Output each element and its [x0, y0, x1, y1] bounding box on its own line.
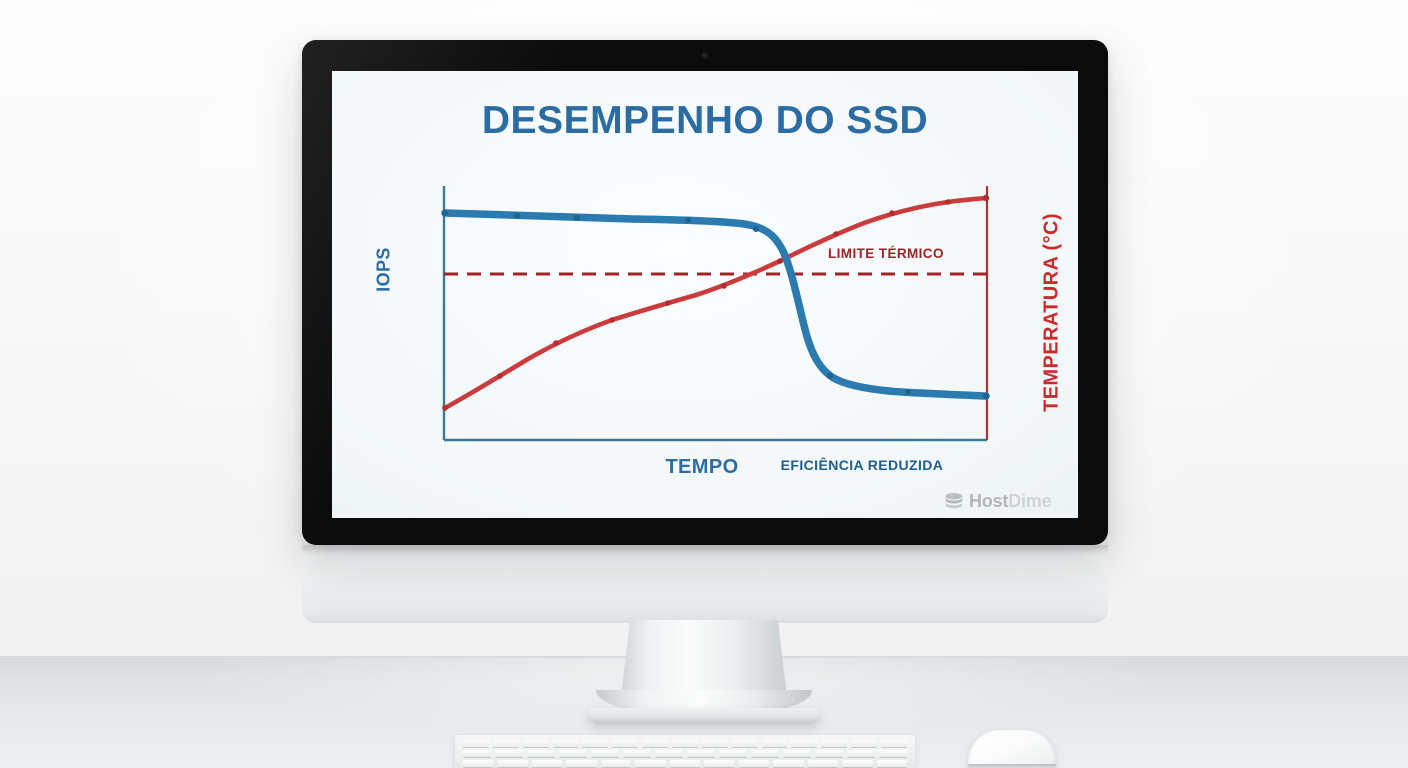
- keyboard-key[interactable]: [751, 750, 779, 757]
- keyboard-key[interactable]: [808, 760, 838, 767]
- temperature-curve: [445, 198, 986, 408]
- keyboard-key[interactable]: [495, 750, 523, 757]
- keyboard-key[interactable]: [591, 750, 619, 757]
- keyboard-key[interactable]: [687, 750, 715, 757]
- keyboard-key[interactable]: [791, 740, 817, 747]
- iops-markers: [442, 210, 989, 399]
- monitor-bezel: DESEMPENHO DO SSD: [302, 40, 1108, 545]
- keyboard-key[interactable]: [762, 740, 788, 747]
- keyboard-row: [463, 750, 907, 759]
- iops-curve: [445, 213, 986, 396]
- keyboard-key[interactable]: [463, 760, 493, 767]
- y-axis-left-label: IOPS: [374, 210, 395, 330]
- mouse-base: [968, 764, 1056, 768]
- keyboard-key[interactable]: [623, 750, 651, 757]
- keyboard-key[interactable]: [815, 750, 843, 757]
- keyboard-row: [463, 740, 907, 749]
- keyboard-key[interactable]: [732, 740, 758, 747]
- keyboard-key[interactable]: [879, 750, 907, 757]
- keyboard-key[interactable]: [497, 760, 527, 767]
- logo-text-host: Host: [969, 491, 1008, 511]
- logo-text-dime: Dime: [1008, 491, 1051, 511]
- keyboard-key[interactable]: [655, 750, 683, 757]
- keyboard-key[interactable]: [842, 760, 872, 767]
- keyboard-key[interactable]: [642, 740, 668, 747]
- keyboard-key[interactable]: [773, 760, 803, 767]
- keyboard-key[interactable]: [635, 760, 665, 767]
- keyboard-key[interactable]: [566, 760, 596, 767]
- monitor-stand-base: [588, 708, 820, 724]
- keyboard-key[interactable]: [851, 740, 877, 747]
- keyboard-key[interactable]: [672, 740, 698, 747]
- keyboard-key[interactable]: [821, 740, 847, 747]
- keyboard-key[interactable]: [601, 760, 631, 767]
- y-axis-right-label: TEMPERATURA (°C): [1041, 193, 1064, 433]
- slide-content: DESEMPENHO DO SSD: [332, 71, 1078, 518]
- keyboard-key[interactable]: [493, 740, 519, 747]
- temperature-markers: [442, 195, 989, 411]
- keyboard-key[interactable]: [463, 750, 491, 757]
- keyboard-key[interactable]: [670, 760, 700, 767]
- keyboard-key[interactable]: [847, 750, 875, 757]
- mouse[interactable]: [968, 730, 1056, 768]
- keyboard-row: [463, 760, 907, 768]
- keyboard[interactable]: [455, 735, 915, 768]
- monitor-screen[interactable]: DESEMPENHO DO SSD: [332, 71, 1078, 518]
- webcam-icon: [702, 52, 709, 59]
- keyboard-key[interactable]: [704, 760, 734, 767]
- keyboard-key[interactable]: [582, 740, 608, 747]
- thermal-threshold-annotation: LIMITE TÉRMICO: [828, 246, 988, 261]
- desk-scene: DESEMPENHO DO SSD: [0, 0, 1408, 768]
- keyboard-key[interactable]: [463, 740, 489, 747]
- keyboard-key[interactable]: [702, 740, 728, 747]
- hostdime-logo-text: HostDime: [969, 491, 1051, 512]
- keyboard-key[interactable]: [783, 750, 811, 757]
- keyboard-key[interactable]: [527, 750, 555, 757]
- monitor-chin: [302, 545, 1108, 623]
- keyboard-key[interactable]: [881, 740, 907, 747]
- keyboard-key[interactable]: [612, 740, 638, 747]
- keyboard-key[interactable]: [523, 740, 549, 747]
- keyboard-key[interactable]: [739, 760, 769, 767]
- keyboard-key[interactable]: [559, 750, 587, 757]
- hostdime-logo: HostDime: [944, 491, 1051, 512]
- stacked-disks-icon: [944, 492, 964, 511]
- keyboard-key[interactable]: [877, 760, 907, 767]
- ssd-performance-chart: [332, 71, 1078, 518]
- keyboard-key[interactable]: [553, 740, 579, 747]
- keyboard-key[interactable]: [532, 760, 562, 767]
- keyboard-key[interactable]: [719, 750, 747, 757]
- efficiency-annotation: EFICIÊNCIA REDUZIDA: [752, 457, 972, 473]
